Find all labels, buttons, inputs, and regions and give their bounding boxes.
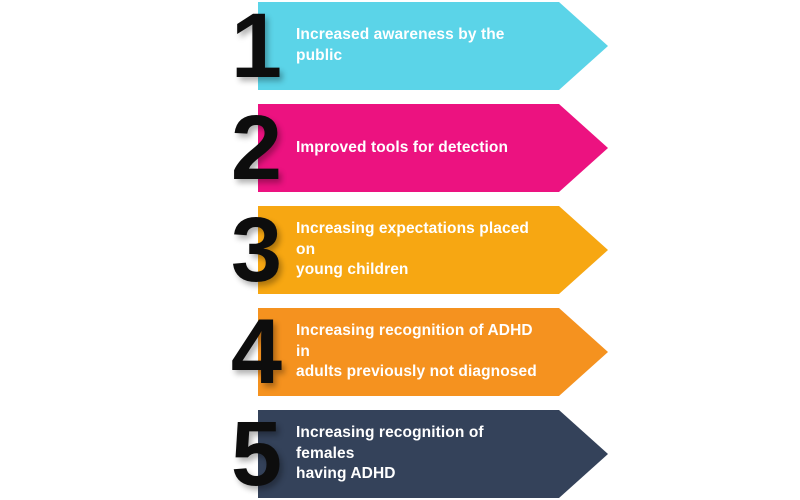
step-banner-2[interactable]: Improved tools for detection (258, 104, 608, 192)
step-label-5: Increasing recognition of females having… (258, 423, 606, 486)
step-number-2: 2 (208, 98, 280, 198)
step-list: Increased awareness by the public 1 Impr… (0, 0, 800, 500)
step-banner-1[interactable]: Increased awareness by the public (258, 2, 608, 90)
step-row: Increasing expectations placed on young … (0, 206, 800, 294)
step-label-4: Increasing recognition of ADHD in adults… (258, 321, 606, 384)
step-row: Increased awareness by the public 1 (0, 2, 800, 90)
step-number-3: 3 (208, 200, 280, 300)
step-row: Increasing recognition of ADHD in adults… (0, 308, 800, 396)
step-label-3: Increasing expectations placed on young … (258, 219, 606, 282)
infographic-canvas: Increased awareness by the public 1 Impr… (0, 0, 800, 500)
step-label-1: Increased awareness by the public (258, 25, 606, 67)
step-banner-4[interactable]: Increasing recognition of ADHD in adults… (258, 308, 608, 396)
step-row: Improved tools for detection 2 (0, 104, 800, 192)
step-number-4: 4 (208, 302, 280, 402)
step-row: Increasing recognition of females having… (0, 410, 800, 498)
step-banner-5[interactable]: Increasing recognition of females having… (258, 410, 608, 498)
step-banner-3[interactable]: Increasing expectations placed on young … (258, 206, 608, 294)
step-number-1: 1 (208, 0, 280, 96)
step-number-5: 5 (208, 404, 280, 500)
step-label-2: Improved tools for detection (258, 138, 568, 159)
